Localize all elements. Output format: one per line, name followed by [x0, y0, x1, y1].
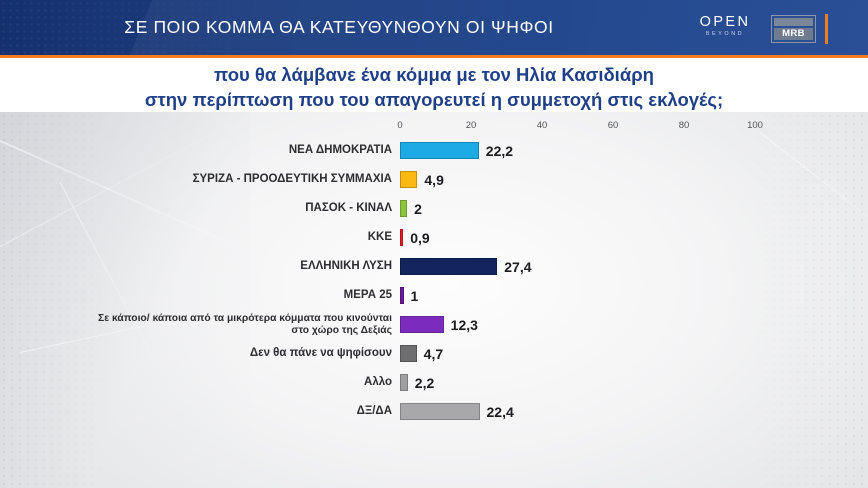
- bar-row: ΠΑΣΟΚ - ΚΙΝΑΛ2: [0, 194, 868, 223]
- x-axis-tick-label: 60: [608, 120, 619, 132]
- open-beyond-logo: ΟΡΕΝ BEYOND: [692, 15, 758, 39]
- bar-container: 27,4: [400, 252, 532, 281]
- bar-category-label: ΔΞ/ΔΑ: [32, 397, 392, 426]
- bar-container: 12,3: [400, 310, 478, 339]
- bar-value-label: 0,9: [410, 230, 429, 246]
- x-axis-tick-label: 80: [679, 120, 690, 132]
- bar-container: 4,7: [400, 339, 443, 368]
- bar-row: ΚΚΕ0,9: [0, 223, 868, 252]
- bar: [400, 229, 403, 246]
- bar-row: Δεν θα πάνε να ψηφίσουν4,7: [0, 339, 868, 368]
- bar-category-label: Δεν θα πάνε να ψηφίσουν: [32, 339, 392, 368]
- bar-row: Αλλο2,2: [0, 368, 868, 397]
- bar-container: 0,9: [400, 223, 430, 252]
- bar-container: 4,9: [400, 165, 444, 194]
- x-axis: 020406080100: [400, 120, 755, 134]
- bar-row: ΜΕΡΑ 251: [0, 281, 868, 310]
- header-accent-tick: [825, 14, 828, 44]
- x-axis-tick-label: 100: [747, 120, 763, 132]
- bar-category-label: ΝΕΑ ΔΗΜΟΚΡΑΤΙΑ: [32, 136, 392, 165]
- bar-value-label: 4,9: [424, 172, 443, 188]
- bar-container: 1: [400, 281, 418, 310]
- question-line-2: στην περίπτωση που του απαγορευτεί η συμ…: [0, 87, 868, 112]
- bar-category-label: ΕΛΛΗΝΙΚΗ ΛΥΣΗ: [32, 252, 392, 281]
- bar-container: 22,4: [400, 397, 514, 426]
- bar: [400, 200, 407, 217]
- bar-category-label: ΠΑΣΟΚ - ΚΙΝΑΛ: [32, 194, 392, 223]
- mrb-logo-bar: [774, 18, 813, 26]
- x-axis-tick-label: 0: [397, 120, 402, 132]
- poll-graphic: ΣΕ ΠΟΙΟ ΚΟΜΜΑ ΘΑ ΚΑΤΕΥΘΥΝΘΟΥΝ ΟΙ ΨΗΦΟΙ Ο…: [0, 0, 868, 488]
- bar: [400, 374, 408, 391]
- x-axis-tick-label: 20: [466, 120, 477, 132]
- bar-container: 2,2: [400, 368, 434, 397]
- x-axis-tick-label: 40: [537, 120, 548, 132]
- open-logo-subtitle: BEYOND: [692, 30, 758, 39]
- question-band: που θα λάμβανε ένα κόμμα με τον Ηλία Κασ…: [0, 58, 868, 112]
- bar-row: Σε κάποιο/ κάποια από τα μικρότερα κόμμα…: [0, 310, 868, 339]
- bar: [400, 142, 479, 159]
- bar-value-label: 1: [411, 288, 419, 304]
- bar-value-label: 22,4: [487, 404, 514, 420]
- bar-value-label: 22,2: [486, 143, 513, 159]
- bar-category-label: Σε κάποιο/ κάποια από τα μικρότερα κόμμα…: [32, 310, 392, 339]
- bar-row: ΣΥΡΙΖΑ - ΠΡΟΟΔΕΥΤΙΚΗ ΣΥΜΜΑΧΙΑ4,9: [0, 165, 868, 194]
- bar: [400, 345, 417, 362]
- bar: [400, 403, 480, 420]
- bar: [400, 171, 417, 188]
- bar-category-label: ΜΕΡΑ 25: [32, 281, 392, 310]
- header-banner: ΣΕ ΠΟΙΟ ΚΟΜΜΑ ΘΑ ΚΑΤΕΥΘΥΝΘΟΥΝ ΟΙ ΨΗΦΟΙ Ο…: [0, 0, 868, 55]
- bar-rows: ΝΕΑ ΔΗΜΟΚΡΑΤΙΑ22,2ΣΥΡΙΖΑ - ΠΡΟΟΔΕΥΤΙΚΗ Σ…: [0, 136, 868, 426]
- bar-row: ΝΕΑ ΔΗΜΟΚΡΑΤΙΑ22,2: [0, 136, 868, 165]
- mrb-logo: MRB: [771, 15, 816, 43]
- bar-value-label: 4,7: [424, 346, 443, 362]
- bar-value-label: 2,2: [415, 375, 434, 391]
- bar-value-label: 27,4: [504, 259, 531, 275]
- bar-row: ΔΞ/ΔΑ22,4: [0, 397, 868, 426]
- bar: [400, 258, 497, 275]
- bar: [400, 316, 444, 333]
- bar-value-label: 2: [414, 201, 422, 217]
- open-logo-wordmark: ΟΡΕΝ: [692, 15, 758, 30]
- bar-container: 2: [400, 194, 422, 223]
- bar-category-label: ΣΥΡΙΖΑ - ΠΡΟΟΔΕΥΤΙΚΗ ΣΥΜΜΑΧΙΑ: [32, 165, 392, 194]
- bar-row: ΕΛΛΗΝΙΚΗ ΛΥΣΗ27,4: [0, 252, 868, 281]
- bar: [400, 287, 404, 304]
- mrb-logo-text: MRB: [774, 28, 813, 40]
- question-line-1: που θα λάμβανε ένα κόμμα με τον Ηλία Κασ…: [0, 62, 868, 87]
- bar-category-label: Αλλο: [32, 368, 392, 397]
- bar-category-label: ΚΚΕ: [32, 223, 392, 252]
- bar-value-label: 12,3: [451, 317, 478, 333]
- chart-area: 020406080100 ΝΕΑ ΔΗΜΟΚΡΑΤΙΑ22,2ΣΥΡΙΖΑ - …: [0, 112, 868, 488]
- bar-container: 22,2: [400, 136, 513, 165]
